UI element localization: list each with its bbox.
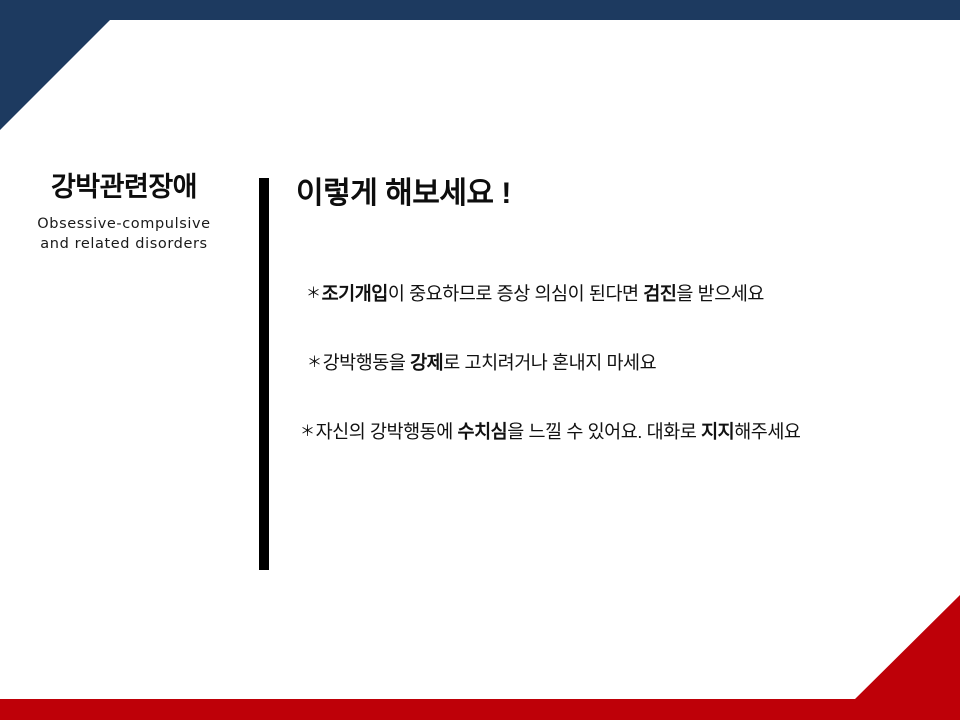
list-item-text: 조기개입이 중요하므로 증상 의심이 된다면 검진을 받으세요 — [322, 283, 764, 304]
emphasis-text: 수치심 — [458, 421, 508, 442]
presentation-slide: 강박관련장애 Obsessive-compulsive and related … — [0, 0, 960, 720]
list-item: ＊조기개입이 중요하므로 증상 의심이 된다면 검진을 받으세요 — [306, 282, 926, 305]
emphasis-text: 조기개입 — [322, 283, 388, 304]
emphasis-text: 강제 — [410, 352, 443, 373]
body-text: 로 고치려거나 혼내지 마세요 — [443, 352, 656, 373]
asterisk-bullet-icon: ＊ — [300, 423, 315, 442]
vertical-divider-bar — [259, 178, 269, 570]
navy-top-banner-shape — [0, 0, 960, 130]
slide-title-block: 강박관련장애 Obsessive-compulsive and related … — [0, 172, 248, 254]
list-item-text: 강박행동을 강제로 고치려거나 혼내지 마세요 — [323, 352, 657, 373]
emphasis-text: 지지 — [701, 421, 734, 442]
body-text: 을 느낄 수 있어요. 대화로 — [507, 421, 701, 442]
body-text: 해주세요 — [734, 421, 800, 442]
list-item-text: 자신의 강박행동에 수치심을 느낄 수 있어요. 대화로 지지해주세요 — [316, 421, 801, 442]
content-heading: 이렇게 해보세요 ! — [296, 176, 932, 212]
asterisk-bullet-icon: ＊ — [306, 285, 321, 304]
red-bottom-banner-shape — [0, 595, 960, 720]
page-subtitle-line-2: and related disorders — [0, 234, 248, 254]
body-text: 자신의 강박행동에 — [316, 421, 458, 442]
list-item: ＊자신의 강박행동에 수치심을 느낄 수 있어요. 대화로 지지해주세요 — [300, 420, 926, 443]
body-text: 이 중요하므로 증상 의심이 된다면 — [388, 283, 643, 304]
page-subtitle-line-1: Obsessive-compulsive — [0, 214, 248, 234]
page-title-korean: 강박관련장애 — [0, 172, 248, 203]
asterisk-bullet-icon: ＊ — [307, 354, 322, 373]
page-subtitle-english: Obsessive-compulsive and related disorde… — [0, 214, 248, 254]
body-text: 을 받으세요 — [676, 283, 764, 304]
emphasis-text: 검진 — [643, 283, 676, 304]
body-text: 강박행동을 — [323, 352, 411, 373]
bullet-list: ＊조기개입이 중요하므로 증상 의심이 된다면 검진을 받으세요 ＊강박행동을 … — [306, 282, 926, 443]
content-column: 이렇게 해보세요 ! — [296, 176, 932, 212]
list-item: ＊강박행동을 강제로 고치려거나 혼내지 마세요 — [307, 351, 926, 374]
